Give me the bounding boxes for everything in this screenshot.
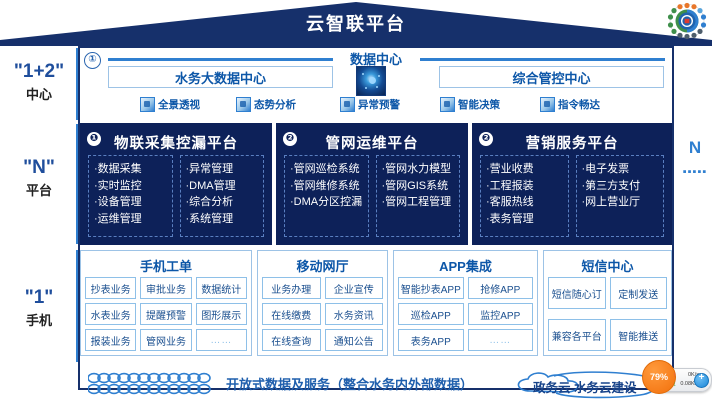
integrated-control-center-label: 综合管控中心 — [512, 68, 590, 87]
platform-3-col-right: ·电子发票 ·第三方支付 ·网上营业厅 — [576, 155, 665, 237]
roof-banner: 云智联平台 — [0, 0, 712, 46]
add-button-icon[interactable] — [694, 373, 709, 388]
mobile-group-online-hall[interactable]: 移动网厅 业务办理 企业宣传 在线缴费 水务资讯 在线查询 通知公告 — [257, 250, 388, 356]
platform-band: ❶ 物联采集控漏平台 ·数据采集 ·实时监控 ·设备管理 ·运维管理 ·异常管理… — [80, 123, 672, 245]
cpu-usage-badge[interactable]: 79% — [642, 360, 676, 394]
platform-2-item[interactable]: ·管网工程管理 — [382, 194, 457, 211]
mobile-chip[interactable]: 图形展示 — [196, 303, 247, 325]
mobile-chip[interactable]: 兼容各平台 — [548, 319, 606, 351]
feature-situation-analysis-label: 态势分析 — [254, 97, 296, 112]
mobile-chip[interactable]: 报装业务 — [85, 329, 136, 351]
mobile-group-3-grid: 智能抄表APP 抢修APP 巡检APP 监控APP 表务APP …… — [398, 277, 533, 351]
platform-2-item[interactable]: ·管网维修系统 — [290, 178, 365, 195]
water-big-data-center-box[interactable]: 水务大数据中心 — [108, 66, 333, 88]
mobile-chip[interactable]: 抢修APP — [468, 277, 534, 299]
feature-alert-warning[interactable]: 异常预警 — [340, 97, 400, 112]
mobile-group-4-grid: 短信随心订 定制发送 兼容各平台 智能推送 — [548, 277, 667, 351]
situation-analysis-icon — [236, 97, 251, 112]
circular-emblem-logo-icon — [665, 1, 709, 41]
mobile-chip[interactable]: 智能推送 — [610, 319, 668, 351]
mobile-band: 手机工单 抄表业务 审批业务 数据统计 水表业务 提醒预警 图形展示 报装业务 … — [80, 250, 672, 360]
rail-platform-sub: 平台 — [0, 180, 78, 199]
open-data-bar: 开放式数据及服务（整合水务内外部数据） 政务云 水务云建设 — [78, 368, 674, 402]
rail-mobile-sub: 手机 — [0, 310, 78, 329]
network-speed-widget[interactable]: 79% ↑ 0K/s ↓ 0.08K/s — [650, 368, 712, 392]
platform-2-col-right: ·管网水力模型 ·管网GIS系统 ·管网工程管理 — [376, 155, 461, 237]
open-data-label: 开放式数据及服务（整合水务内外部数据） — [226, 374, 473, 393]
feature-panorama-label: 全景透视 — [158, 97, 200, 112]
upload-arrow-icon: ↑ — [673, 371, 677, 380]
rail-mobile-big: "1" — [0, 288, 78, 308]
feature-alert-warning-label: 异常预警 — [358, 97, 400, 112]
mobile-group-3-title: APP集成 — [394, 256, 537, 275]
platform-1-item[interactable]: ·综合分析 — [186, 194, 261, 211]
mobile-chip[interactable]: 提醒预警 — [140, 303, 191, 325]
mobile-chip[interactable]: 短信随心订 — [548, 277, 606, 309]
mobile-chip[interactable]: 在线缴费 — [262, 303, 321, 325]
mobile-chip[interactable]: 在线查询 — [262, 329, 321, 351]
feature-command-dispatch-label: 指令畅达 — [558, 97, 600, 112]
smart-decision-icon — [440, 97, 455, 112]
platform-3-item[interactable]: ·第三方支付 — [582, 178, 661, 195]
mobile-chip[interactable]: 业务办理 — [262, 277, 321, 299]
platform-pipeline-ops[interactable]: ❷ 管网运维平台 ·管网巡检系统 ·管网维修系统 ·DMA分区控漏 ·管网水力模… — [276, 123, 468, 245]
feature-smart-decision-label: 智能决策 — [458, 97, 500, 112]
ai-brain-icon — [356, 66, 386, 96]
platform-3-item[interactable]: ·营业收费 — [486, 161, 565, 178]
mobile-group-1-grid: 抄表业务 审批业务 数据统计 水表业务 提醒预警 图形展示 报装业务 管网业务 … — [85, 277, 247, 351]
center-rule-left — [108, 58, 333, 61]
mobile-chip[interactable]: 通知公告 — [325, 329, 384, 351]
platform-1-col-right: ·异常管理 ·DMA管理 ·综合分析 ·系统管理 — [180, 155, 265, 237]
platform-3-item[interactable]: ·表务管理 — [486, 211, 565, 228]
rail-label-platform: "N" 平台 — [0, 158, 78, 199]
platform-2-item[interactable]: ·DMA分区控漏 — [290, 194, 365, 211]
feature-command-dispatch[interactable]: 指令畅达 — [540, 97, 600, 112]
mobile-group-sms-center[interactable]: 短信中心 短信随心订 定制发送 兼容各平台 智能推送 — [543, 250, 672, 356]
platform-count-marker: N — [678, 138, 712, 158]
platform-2-title: 管网运维平台 — [277, 132, 467, 153]
mobile-chip[interactable]: 巡检APP — [398, 303, 464, 325]
feature-panorama[interactable]: 全景透视 — [140, 97, 200, 112]
chain-links-icon — [88, 372, 216, 396]
rail-center-sub: 中心 — [0, 84, 78, 103]
mobile-chip-more[interactable]: …… — [468, 329, 534, 351]
mobile-group-work-order[interactable]: 手机工单 抄表业务 审批业务 数据统计 水表业务 提醒预警 图形展示 报装业务 … — [80, 250, 252, 356]
platform-1-item[interactable]: ·DMA管理 — [186, 178, 261, 195]
mobile-group-app-integration[interactable]: APP集成 智能抄表APP 抢修APP 巡检APP 监控APP 表务APP …… — [393, 250, 538, 356]
center-band-marker: ① — [84, 52, 101, 69]
mobile-chip[interactable]: 企业宣传 — [325, 277, 384, 299]
platform-2-item[interactable]: ·管网巡检系统 — [290, 161, 365, 178]
mobile-chip[interactable]: 监控APP — [468, 303, 534, 325]
mobile-group-1-title: 手机工单 — [81, 256, 251, 275]
mobile-chip[interactable]: 数据统计 — [196, 277, 247, 299]
alert-warning-icon — [340, 97, 355, 112]
rail-label-center: "1+2" 中心 — [0, 62, 78, 103]
platform-1-item[interactable]: ·实时监控 — [94, 178, 169, 195]
platform-1-item[interactable]: ·异常管理 — [186, 161, 261, 178]
platform-2-col-left: ·管网巡检系统 ·管网维修系统 ·DMA分区控漏 — [284, 155, 369, 237]
mobile-group-4-title: 短信中心 — [544, 256, 671, 275]
platform-3-item[interactable]: ·网上营业厅 — [582, 194, 661, 211]
mobile-chip[interactable]: 抄表业务 — [85, 277, 136, 299]
platform-1-item[interactable]: ·设备管理 — [94, 194, 169, 211]
platform-3-item[interactable]: ·客服热线 — [486, 194, 565, 211]
platform-iot-collection[interactable]: ❶ 物联采集控漏平台 ·数据采集 ·实时监控 ·设备管理 ·运维管理 ·异常管理… — [80, 123, 272, 245]
rail-label-mobile: "1" 手机 — [0, 288, 78, 329]
platform-3-col-left: ·营业收费 ·工程报装 ·客服热线 ·表务管理 — [480, 155, 569, 237]
platform-count-dots: ▪▪▪▪▪ — [678, 166, 712, 178]
mobile-chip-more[interactable]: …… — [196, 329, 247, 351]
mobile-group-2-grid: 业务办理 企业宣传 在线缴费 水务资讯 在线查询 通知公告 — [262, 277, 383, 351]
water-big-data-center-label: 水务大数据中心 — [175, 68, 266, 87]
panorama-icon — [140, 97, 155, 112]
platform-1-item[interactable]: ·运维管理 — [94, 211, 169, 228]
mobile-chip[interactable]: 智能抄表APP — [398, 277, 464, 299]
mobile-chip[interactable]: 定制发送 — [610, 277, 668, 309]
mobile-group-2-title: 移动网厅 — [258, 256, 387, 275]
platform-1-col-left: ·数据采集 ·实时监控 ·设备管理 ·运维管理 — [88, 155, 173, 237]
platform-3-item[interactable]: ·工程报装 — [486, 178, 565, 195]
integrated-control-center-box[interactable]: 综合管控中心 — [439, 66, 664, 88]
platform-1-item[interactable]: ·数据采集 — [94, 161, 169, 178]
feature-smart-decision[interactable]: 智能决策 — [440, 97, 500, 112]
mobile-chip[interactable]: 水务资讯 — [325, 303, 384, 325]
feature-situation-analysis[interactable]: 态势分析 — [236, 97, 296, 112]
mobile-chip[interactable]: 管网业务 — [140, 329, 191, 351]
rail-center-big: "1+2" — [0, 62, 78, 82]
mobile-chip[interactable]: 水表业务 — [85, 303, 136, 325]
platform-3-title: 营销服务平台 — [473, 132, 671, 153]
platform-marketing-service[interactable]: ❷ 营销服务平台 ·营业收费 ·工程报装 ·客服热线 ·表务管理 ·电子发票 ·… — [472, 123, 672, 245]
mobile-chip[interactable]: 审批业务 — [140, 277, 191, 299]
architecture-diagram: 云智联平台 "1+2" 中心 "N" 平台 — [0, 0, 712, 405]
mobile-chip[interactable]: 表务APP — [398, 329, 464, 351]
platform-2-item[interactable]: ·管网水力模型 — [382, 161, 457, 178]
command-dispatch-icon — [540, 97, 555, 112]
center-rule-right — [420, 58, 665, 61]
page-title: 云智联平台 — [0, 10, 712, 36]
platform-2-item[interactable]: ·管网GIS系统 — [382, 178, 457, 195]
platform-1-title: 物联采集控漏平台 — [81, 132, 271, 153]
platform-3-item[interactable]: ·电子发票 — [582, 161, 661, 178]
rail-platform-big: "N" — [0, 158, 78, 178]
download-arrow-icon: ↓ — [673, 380, 677, 389]
platform-1-item[interactable]: ·系统管理 — [186, 211, 261, 228]
